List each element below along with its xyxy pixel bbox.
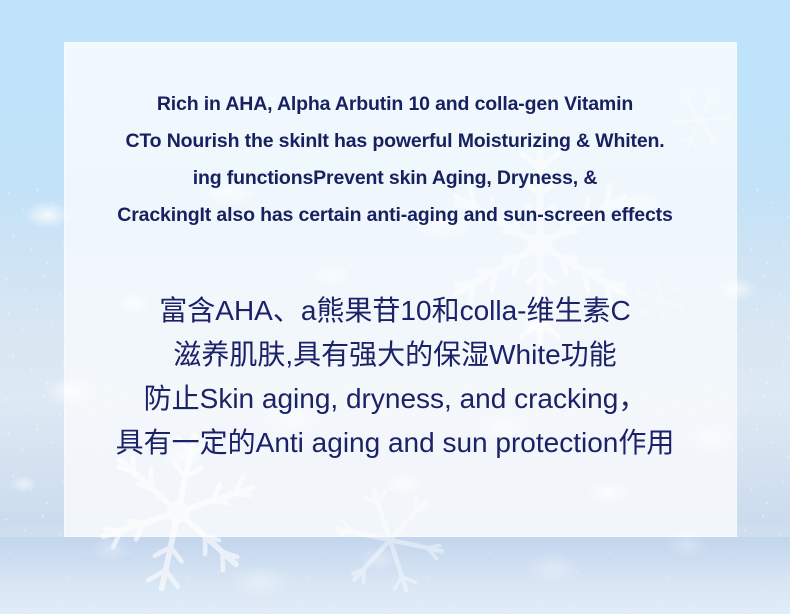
english-line-4: CrackingIt also has certain anti-aging a…	[50, 197, 740, 234]
chinese-description-block: 富含AHA、a熊果苷10和colla-维生素C 滋养肌肤,具有强大的保湿Whit…	[20, 289, 770, 465]
chinese-line-1: 富含AHA、a熊果苷10和colla-维生素C	[20, 289, 770, 333]
english-line-1: Rich in AHA, Alpha Arbutin 10 and colla-…	[50, 86, 740, 123]
product-description-banner: Rich in AHA, Alpha Arbutin 10 and colla-…	[0, 0, 790, 614]
english-line-3: ing functionsPrevent skin Aging, Dryness…	[50, 160, 740, 197]
chinese-line-2: 滋养肌肤,具有强大的保湿White功能	[20, 333, 770, 377]
english-line-2: CTo Nourish the skinIt has powerful Mois…	[50, 123, 740, 160]
chinese-line-3: 防止Skin aging, dryness, and cracking，	[20, 377, 770, 421]
english-description-block: Rich in AHA, Alpha Arbutin 10 and colla-…	[50, 86, 740, 234]
chinese-line-4: 具有一定的Anti aging and sun protection作用	[20, 421, 770, 465]
